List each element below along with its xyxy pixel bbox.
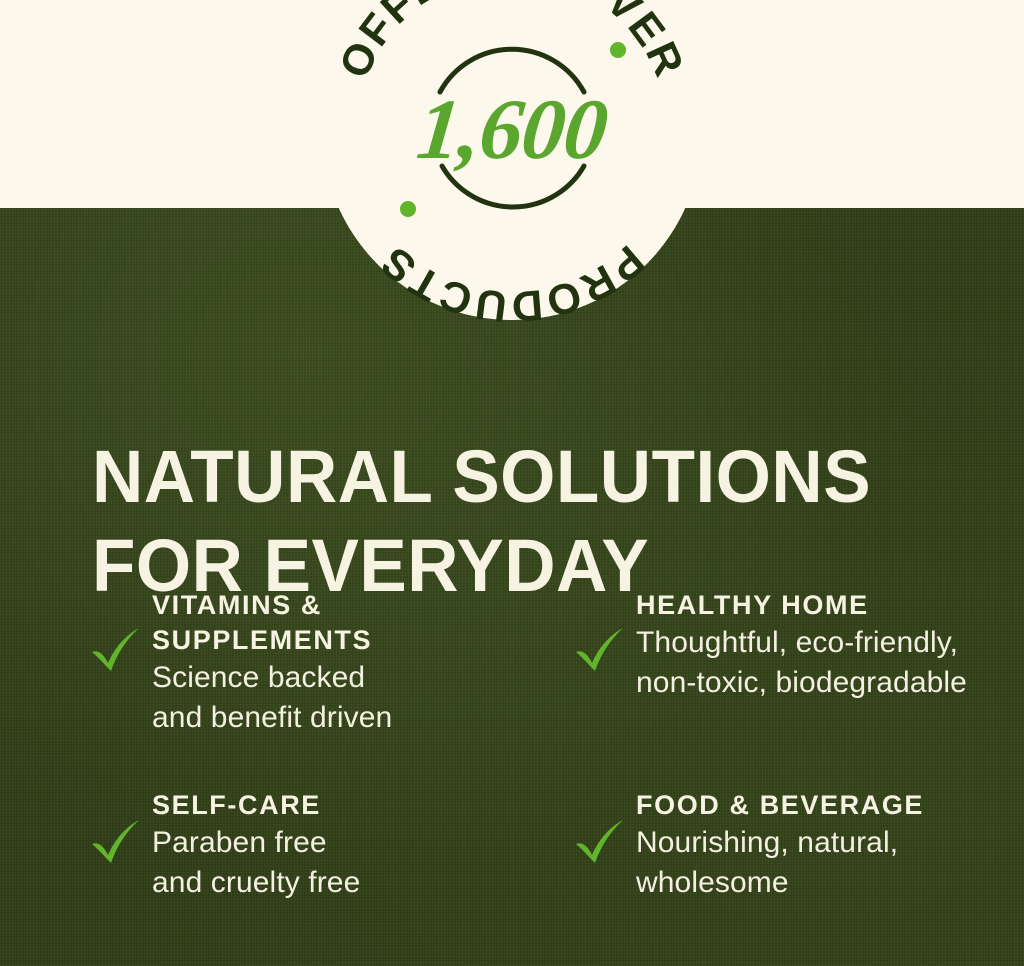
feature-item-food-beverage: FOOD & BEVERAGE Nourishing, natural, who… (572, 788, 1024, 948)
promo-poster: OFFERING OVER PRODUCTS 1,600 NATURAL SOL… (0, 0, 1024, 966)
feature-title: VITAMINS & SUPPLEMENTS (152, 588, 392, 658)
page-title: NATURAL SOLUTIONS FOR EVERYDAY (92, 432, 871, 610)
feature-text-block: SELF-CARE Paraben free and cruelty free (144, 788, 360, 903)
check-icon (88, 814, 144, 870)
feature-item-vitamins-supplements: VITAMINS & SUPPLEMENTS Science backed an… (88, 588, 548, 788)
feature-item-healthy-home: HEALTHY HOME Thoughtful, eco-friendly, n… (572, 588, 1024, 788)
check-icon (572, 814, 628, 870)
badge-top-arc-label: OFFERING OVER (330, 0, 693, 85)
headline-line-1: NATURAL SOLUTIONS (92, 432, 871, 521)
check-icon (88, 622, 144, 678)
feature-description: Nourishing, natural, wholesome (636, 823, 924, 903)
offering-over-badge: OFFERING OVER PRODUCTS 1,600 (322, 0, 702, 320)
feature-title: FOOD & BEVERAGE (636, 788, 924, 823)
feature-text-block: VITAMINS & SUPPLEMENTS Science backed an… (144, 588, 392, 738)
feature-description: Thoughtful, eco-friendly, non-toxic, bio… (636, 623, 967, 703)
check-icon (572, 622, 628, 678)
badge-dot-left-icon (400, 201, 416, 217)
feature-description: Paraben free and cruelty free (152, 823, 360, 903)
feature-title: HEALTHY HOME (636, 588, 967, 623)
feature-list: VITAMINS & SUPPLEMENTS Science backed an… (0, 588, 1024, 948)
badge-bottom-arc-label: PRODUCTS (371, 236, 654, 331)
feature-title: SELF-CARE (152, 788, 360, 823)
badge-product-count: 1,600 (317, 86, 706, 172)
feature-item-self-care: SELF-CARE Paraben free and cruelty free (88, 788, 548, 948)
feature-description: Science backed and benefit driven (152, 658, 392, 738)
feature-text-block: FOOD & BEVERAGE Nourishing, natural, who… (628, 788, 924, 903)
badge-dot-right-icon (610, 42, 626, 58)
feature-text-block: HEALTHY HOME Thoughtful, eco-friendly, n… (628, 588, 967, 703)
